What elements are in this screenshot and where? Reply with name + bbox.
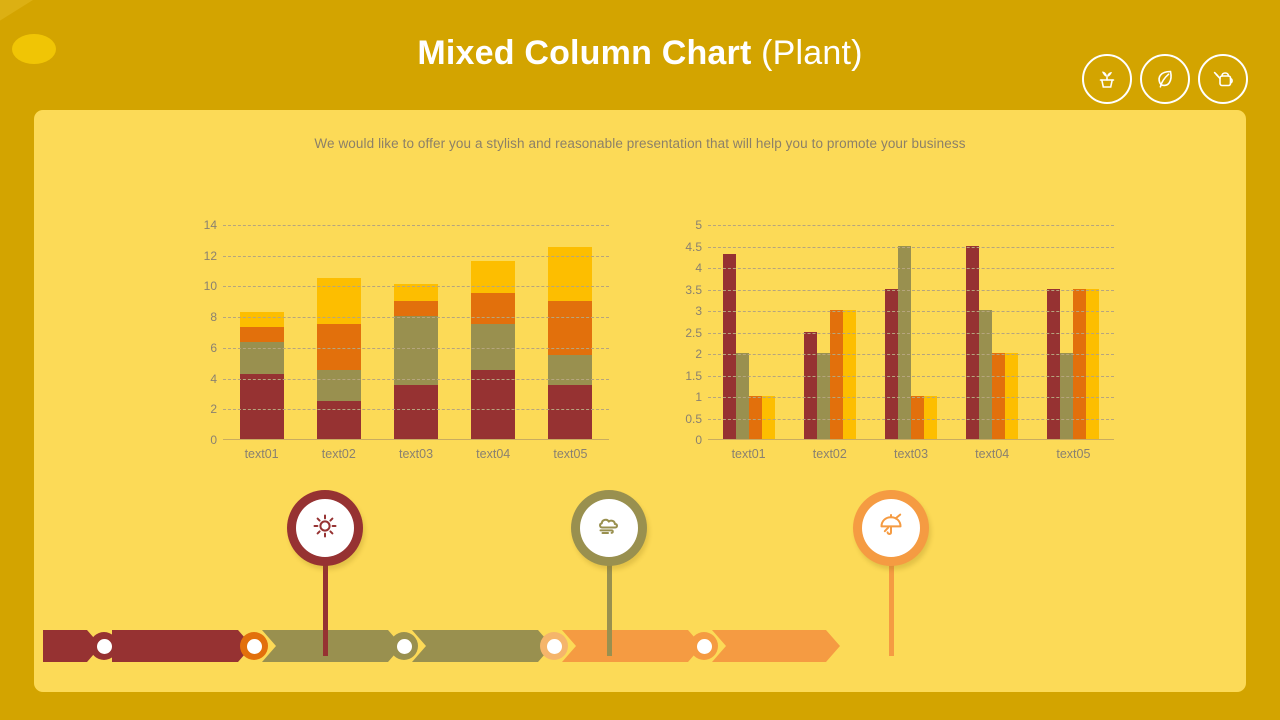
y-axis-tick-label: 2.5 [685, 326, 702, 340]
node-dot [247, 639, 262, 654]
x-axis-tick-label: text05 [1033, 447, 1114, 461]
stacked-chart-plot-area [223, 225, 609, 440]
stacked-column-chart: 02468101214 text01text02text03text04text… [189, 225, 609, 461]
y-axis-tick-label: 2 [695, 347, 702, 361]
stacked-bar[interactable] [471, 261, 515, 439]
pin-circle[interactable] [571, 490, 647, 566]
y-axis-tick-label: 1.5 [685, 369, 702, 383]
gridline [223, 225, 609, 226]
gridline [708, 376, 1114, 377]
gridline [223, 379, 609, 380]
bar-group [952, 224, 1033, 439]
bar-segment[interactable] [548, 385, 592, 439]
y-axis-tick-label: 0 [695, 433, 702, 447]
page-title-strong: Mixed Column Chart [417, 34, 751, 72]
segment-3[interactable] [262, 630, 402, 662]
bar-segment[interactable] [471, 370, 515, 439]
gridline [708, 397, 1114, 398]
y-axis-tick-label: 10 [204, 279, 217, 293]
stacked-chart-x-axis: text01text02text03text04text05 [223, 447, 609, 461]
timeline [34, 490, 1246, 675]
node-3[interactable] [390, 632, 418, 660]
timeline-ribbon [34, 630, 1246, 662]
y-axis-tick-label: 0 [210, 433, 217, 447]
content-card: We would like to offer you a stylish and… [34, 110, 1246, 692]
gridline [708, 311, 1114, 312]
bar[interactable] [992, 353, 1005, 439]
y-axis-tick-label: 6 [210, 341, 217, 355]
gridline [708, 290, 1114, 291]
x-axis-tick-label: text02 [789, 447, 870, 461]
gridline [223, 317, 609, 318]
node-dot [97, 639, 112, 654]
bar[interactable] [979, 310, 992, 439]
potted-plant-icon [1093, 65, 1121, 93]
bar-group [789, 224, 870, 439]
node-5[interactable] [690, 632, 718, 660]
x-axis-tick-label: text05 [532, 447, 609, 461]
bar[interactable] [966, 246, 979, 440]
node-4[interactable] [540, 632, 568, 660]
bar-segment[interactable] [548, 301, 592, 355]
pin-circle[interactable] [853, 490, 929, 566]
gridline [708, 225, 1114, 226]
page-title-light: (Plant) [761, 34, 863, 72]
bar[interactable] [804, 332, 817, 440]
y-axis-tick-label: 8 [210, 310, 217, 324]
bar-group [870, 224, 951, 439]
bar-segment[interactable] [317, 401, 361, 439]
bar-segment[interactable] [394, 301, 438, 316]
y-axis-tick-label: 4.5 [685, 240, 702, 254]
bar-segment[interactable] [317, 370, 361, 401]
x-axis-tick-label: text02 [300, 447, 377, 461]
bar[interactable] [762, 396, 775, 439]
y-axis-tick-label: 4 [210, 372, 217, 386]
gridline [708, 419, 1114, 420]
slide: Mixed Column Chart (Plant) [0, 0, 1280, 720]
badge-leaf[interactable] [1140, 54, 1190, 104]
bar[interactable] [830, 310, 843, 439]
segment-5[interactable] [562, 630, 702, 662]
node-1[interactable] [90, 632, 118, 660]
bar[interactable] [898, 246, 911, 440]
node-dot [547, 639, 562, 654]
y-axis-tick-label: 3 [695, 304, 702, 318]
grouped-chart-y-axis: 00.511.522.533.544.55 [674, 225, 708, 440]
bar[interactable] [736, 353, 749, 439]
stacked-bar[interactable] [394, 284, 438, 439]
bar-group [1033, 224, 1114, 439]
gridline [223, 256, 609, 257]
gridline [223, 348, 609, 349]
bar-segment[interactable] [394, 316, 438, 385]
x-axis-tick-label: text01 [708, 447, 789, 461]
gridline [708, 247, 1114, 248]
bar[interactable] [1060, 353, 1073, 439]
stacked-chart-y-axis: 02468101214 [189, 225, 223, 440]
segment-6[interactable] [712, 630, 840, 662]
subtitle: We would like to offer you a stylish and… [34, 136, 1246, 151]
bar-segment[interactable] [394, 385, 438, 439]
y-axis-tick-label: 0.5 [685, 412, 702, 426]
bar[interactable] [924, 396, 937, 439]
segment-4[interactable] [412, 630, 552, 662]
cloud-wind-icon [593, 510, 625, 547]
pin-inner [296, 499, 354, 557]
y-axis-tick-label: 5 [695, 218, 702, 232]
gridline [223, 409, 609, 410]
badge-watering-can[interactable] [1198, 54, 1248, 104]
segment-2[interactable] [112, 630, 252, 662]
x-axis-tick-label: text01 [223, 447, 300, 461]
gridline [708, 333, 1114, 334]
node-2[interactable] [240, 632, 268, 660]
bar[interactable] [843, 310, 856, 439]
stacked-bar[interactable] [240, 312, 284, 439]
bar-segment[interactable] [548, 355, 592, 386]
x-axis-tick-label: text04 [455, 447, 532, 461]
bar[interactable] [1005, 353, 1018, 439]
pin-inner [862, 499, 920, 557]
y-axis-tick-label: 3.5 [685, 283, 702, 297]
y-axis-tick-label: 4 [695, 261, 702, 275]
bar-segment[interactable] [240, 327, 284, 342]
bar[interactable] [749, 396, 762, 439]
watering-can-icon [1209, 65, 1237, 93]
stacked-bar[interactable] [317, 278, 361, 439]
pin-inner [580, 499, 638, 557]
gridline [223, 286, 609, 287]
y-axis-tick-label: 1 [695, 390, 702, 404]
bar-segment[interactable] [240, 312, 284, 327]
y-axis-tick-label: 2 [210, 402, 217, 416]
bar[interactable] [817, 353, 830, 439]
gridline [708, 354, 1114, 355]
bar-segment[interactable] [240, 374, 284, 439]
grouped-chart-x-axis: text01text02text03text04text05 [708, 447, 1114, 461]
node-dot [397, 639, 412, 654]
x-axis-tick-label: text04 [952, 447, 1033, 461]
leaf-icon [1151, 65, 1179, 93]
umbrella-icon [875, 510, 907, 547]
gridline [708, 268, 1114, 269]
badge-potted-plant[interactable] [1082, 54, 1132, 104]
bar[interactable] [911, 396, 924, 439]
pin-circle[interactable] [287, 490, 363, 566]
x-axis-tick-label: text03 [870, 447, 951, 461]
bar-segment[interactable] [471, 261, 515, 293]
grouped-chart-bars [708, 224, 1114, 439]
bar[interactable] [723, 254, 736, 439]
y-axis-tick-label: 12 [204, 249, 217, 263]
node-dot [697, 639, 712, 654]
sun-icon [309, 510, 341, 547]
grouped-chart-plot-area [708, 225, 1114, 440]
grouped-column-chart: 00.511.522.533.544.55 text01text02text03… [674, 225, 1114, 461]
header-badges [1082, 54, 1248, 104]
x-axis-tick-label: text03 [377, 447, 454, 461]
bar-segment[interactable] [471, 293, 515, 324]
bar-group [708, 224, 789, 439]
y-axis-tick-label: 14 [204, 218, 217, 232]
